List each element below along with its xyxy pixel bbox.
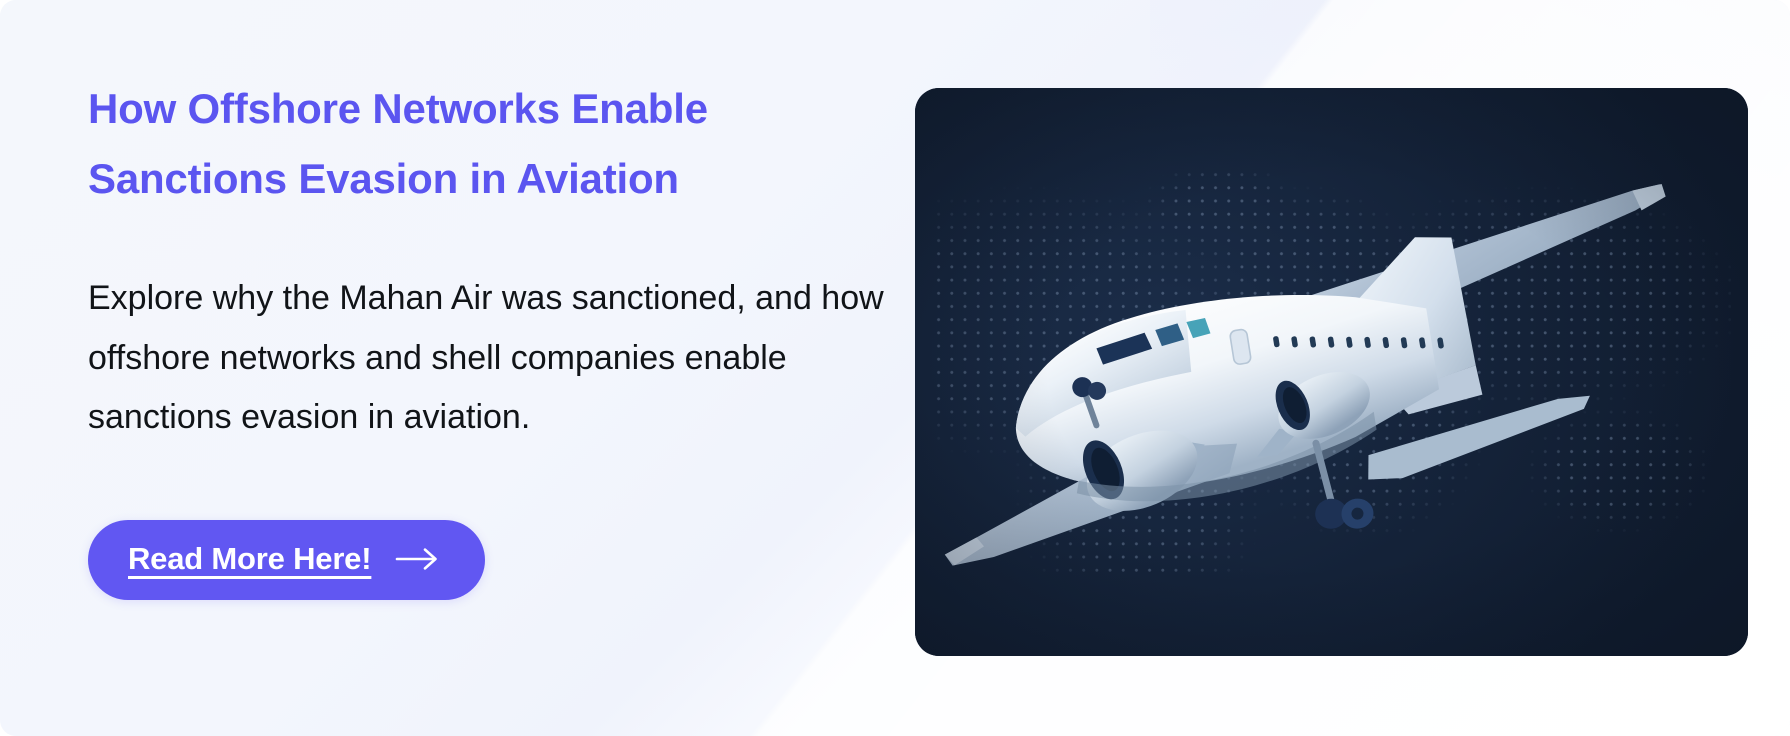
banner-description: Explore why the Mahan Air was sanctioned… [88, 213, 888, 448]
airplane-icon [915, 88, 1748, 656]
banner-content: How Offshore Networks Enable Sanctions E… [88, 74, 898, 600]
cta-container: Read More Here! [88, 448, 898, 600]
banner-media-card [915, 88, 1748, 656]
banner-headline: How Offshore Networks Enable Sanctions E… [88, 74, 728, 213]
arrow-right-icon [395, 547, 441, 571]
read-more-button-label: Read More Here! [128, 541, 371, 577]
read-more-button[interactable]: Read More Here! [88, 520, 485, 600]
promo-banner: How Offshore Networks Enable Sanctions E… [0, 0, 1790, 736]
